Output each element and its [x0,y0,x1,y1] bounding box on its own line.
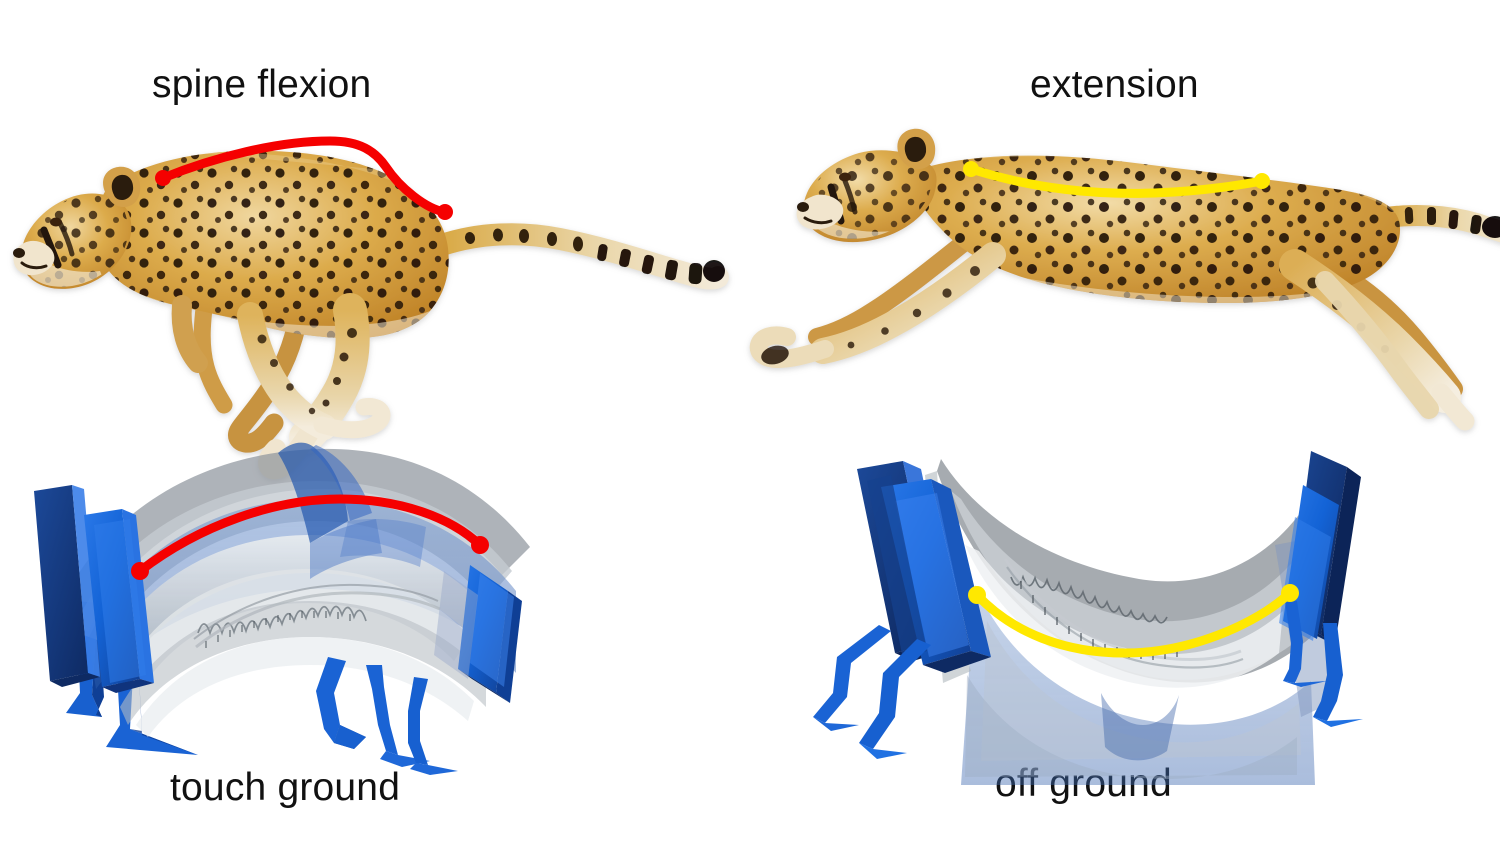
cheetah-extended-illustration [759,129,1500,421]
caption-extension: extension [1030,63,1199,107]
curve-endpoint-end [1254,173,1270,189]
curve-endpoint-start [968,586,986,604]
figure-canvas: spine flexion extension touch ground off… [0,0,1500,844]
caption-spine-flexion: spine flexion [152,63,371,107]
curve-endpoint-end [437,204,453,220]
panel-bottom-right-robot-extension [755,425,1415,775]
curve-endpoint-start [963,161,979,177]
cheetah-flexed-illustration [13,135,725,469]
curve-endpoint-start [155,170,171,186]
robot-extended-illustration [813,451,1363,785]
curve-endpoint-end [1281,584,1299,602]
curve-endpoint-end [471,536,489,554]
robot-end-plate-left [34,485,154,693]
robot-legs-left [813,625,931,759]
panel-bottom-left-robot-flexion [10,425,590,775]
robot-flexed-illustration [34,443,530,775]
robot-body-shell [925,459,1335,785]
panel-top-right-cheetah-extension [735,105,1500,425]
panel-top-left-cheetah-flexion [0,105,760,405]
curve-endpoint-start [131,562,149,580]
